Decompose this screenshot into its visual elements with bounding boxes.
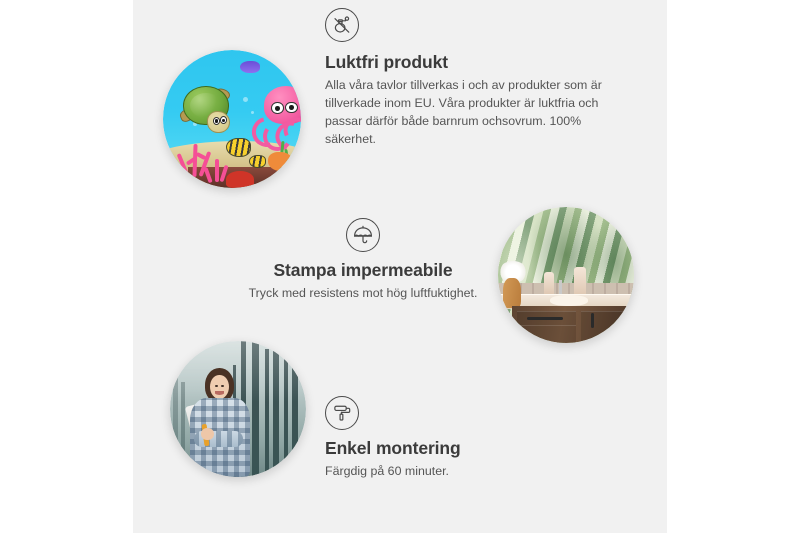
sink-basin <box>550 295 588 306</box>
vanity-cabinet <box>512 306 634 343</box>
turtle-eye <box>220 116 227 124</box>
feature-text-luktfri-produkt: Luktfri produkt Alla våra tavlor tillver… <box>325 8 625 149</box>
feature-title: Luktfri produkt <box>325 52 625 73</box>
feature-text-enkel-montering: Enkel montering Färgdig på 60 minuter. <box>325 396 615 481</box>
feature-description: Alla våra tavlor tillverkas i och av pro… <box>325 77 625 149</box>
underwater-kids-scene-photo <box>163 50 301 188</box>
drawer-handle <box>527 317 563 320</box>
feature-title: Enkel montering <box>325 438 615 459</box>
woman-hand <box>201 428 213 440</box>
feature-title: Stampa impermeabile <box>193 260 533 281</box>
woman-eye <box>215 385 218 387</box>
octopus-eye <box>271 102 283 114</box>
turtle <box>180 86 241 136</box>
feature-description: Färgdig på 60 minuter. <box>325 463 615 481</box>
woman-eye <box>221 385 224 387</box>
door-handle <box>591 313 594 328</box>
octopus-eye <box>285 102 297 114</box>
clown-fish <box>249 155 266 168</box>
feature-text-stampa-impermeabile: Stampa impermeabile Tryck med resistens … <box>193 218 533 303</box>
octopus <box>249 86 301 147</box>
starfish <box>268 152 293 171</box>
woman-with-paint-roller-forest-photo <box>170 341 306 477</box>
turtle-head <box>207 111 230 133</box>
bubble <box>243 97 248 102</box>
crab <box>226 171 254 188</box>
no-fragrance-icon <box>325 8 359 42</box>
drawer <box>517 325 576 342</box>
blue-fish <box>240 61 259 73</box>
umbrella-icon <box>346 218 380 252</box>
cabinet-door <box>581 311 634 343</box>
feature-description: Tryck med resistens mot hög luftfuktighe… <box>193 285 533 303</box>
clown-fish <box>226 138 250 157</box>
promo-banner: Luktfri produkt Alla våra tavlor tillver… <box>0 0 800 533</box>
content-panel: Luktfri produkt Alla våra tavlor tillver… <box>133 0 667 533</box>
paint-roller-icon <box>325 396 359 430</box>
